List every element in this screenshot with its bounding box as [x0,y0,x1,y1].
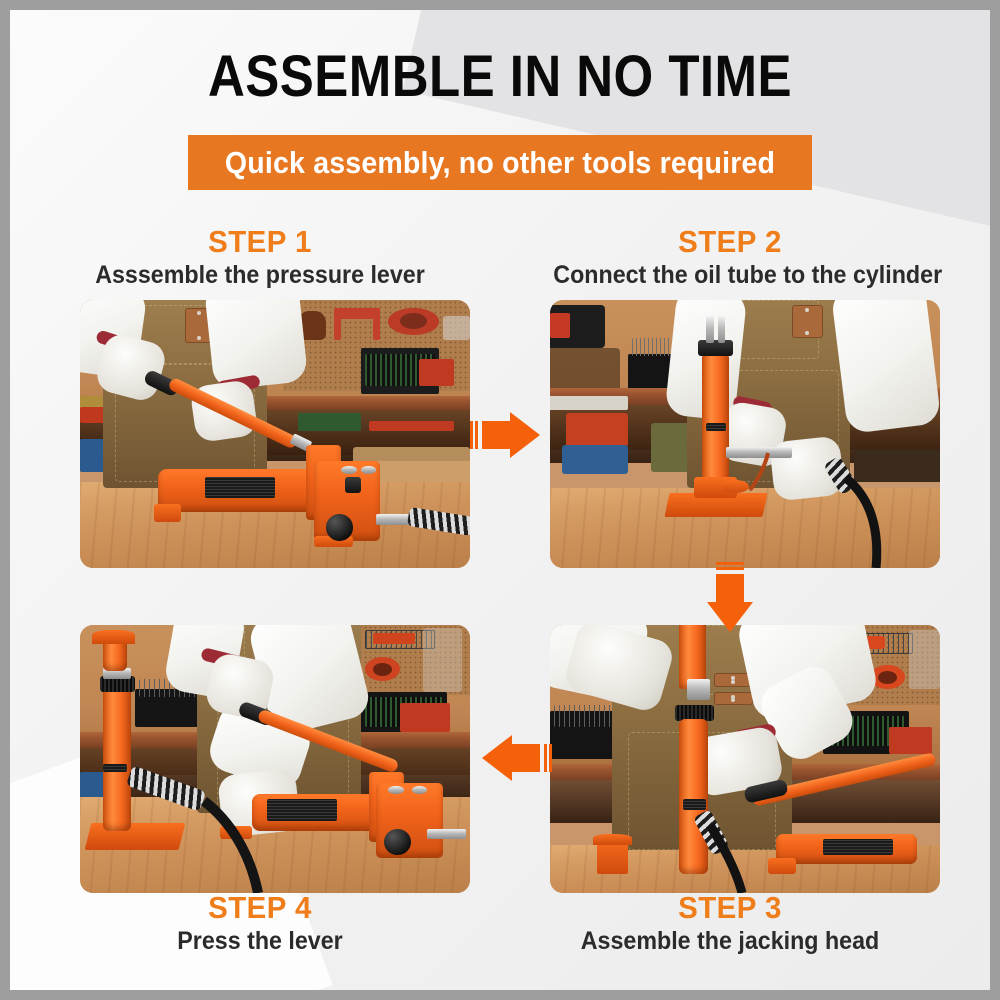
step-3-number: STEP 3 [550,892,911,925]
arrow-step3-to-step4 [478,735,552,781]
step-4-photo [80,625,470,893]
step-2-label: STEP 2 Connect the oil tube to the cylin… [540,226,920,292]
step-1-label: STEP 1 Asssemble the pressure lever [70,226,450,292]
step-3-label: STEP 3 Assemble the jacking head [540,892,920,958]
step-4-label: STEP 4 Press the lever [70,892,450,958]
subtitle-text: Quick assembly, no other tools required [225,145,775,181]
subtitle-banner: Quick assembly, no other tools required [188,135,812,190]
step-1-photo [80,300,470,568]
step-2-photo [550,300,940,568]
arrow-step2-to-step3 [707,562,753,636]
infographic-canvas: ASSEMBLE IN NO TIME Quick assembly, no o… [10,10,990,990]
step-1-description: Asssemble the pressure lever [83,259,436,293]
step-2-description: Connect the oil tube to the cylinder [553,259,906,293]
step-2-number: STEP 2 [550,226,911,259]
step-4-description: Press the lever [83,925,436,959]
step-4-number: STEP 4 [80,892,441,925]
pressure-hose [80,625,470,893]
product-infographic: ASSEMBLE IN NO TIME Quick assembly, no o… [0,0,1000,1000]
step-3-photo [550,625,940,893]
oil-tube-hose [550,300,940,568]
page-title: ASSEMBLE IN NO TIME [69,48,931,106]
step-1-number: STEP 1 [80,226,441,259]
step-3-description: Assemble the jacking head [553,925,906,959]
arrow-step1-to-step2 [470,412,544,458]
